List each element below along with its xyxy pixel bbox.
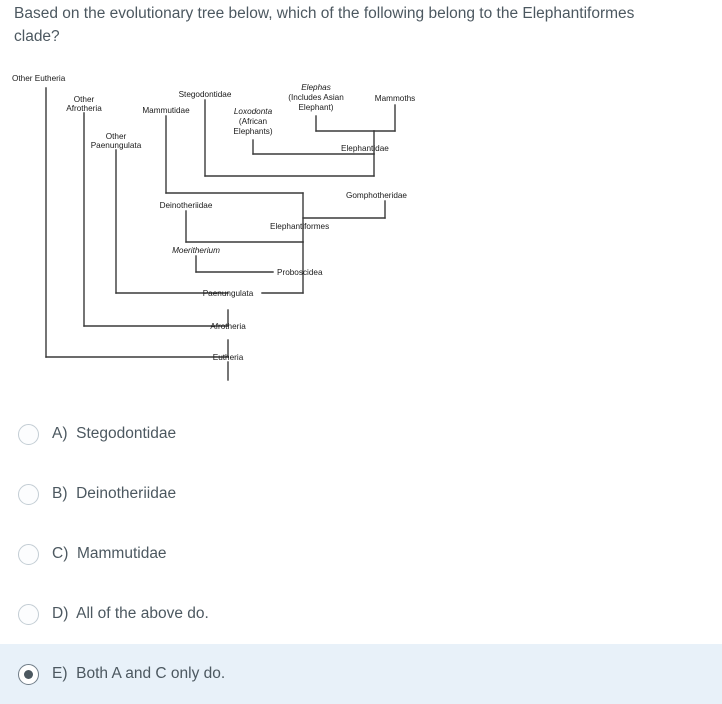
tree-label-loxodonta: Loxodonta bbox=[234, 107, 273, 116]
answer-option-d-label: D) All of the above do. bbox=[52, 605, 209, 623]
tree-label-elephantiformes: Elephantiformes bbox=[270, 222, 329, 231]
tree-label-mammutidae: Mammutidae bbox=[142, 106, 190, 115]
tree-label-elephas-sub1: (Includes Asian bbox=[288, 93, 344, 102]
question-prompt: Based on the evolutionary tree below, wh… bbox=[14, 2, 674, 48]
answer-option-a[interactable]: A) Stegodontidae bbox=[0, 404, 722, 464]
answer-option-c[interactable]: C) Mammutidae bbox=[0, 524, 722, 584]
tree-label-elephas: Elephas bbox=[301, 83, 331, 92]
tree-label-other-afrotheria-line2: Afrotheria bbox=[66, 104, 102, 113]
answer-option-a-label: A) Stegodontidae bbox=[52, 425, 176, 443]
cladogram-svg: Other Eutheria Other Afrotheria Other Pa… bbox=[0, 70, 460, 390]
tree-label-afrotheria: Afrotheria bbox=[210, 322, 246, 331]
tree-label-mammoths: Mammoths bbox=[375, 94, 416, 103]
tree-label-other-paenungulata-line2: Paenungulata bbox=[91, 141, 142, 150]
answer-option-d[interactable]: D) All of the above do. bbox=[0, 584, 722, 644]
radio-button-d[interactable] bbox=[18, 604, 39, 625]
tree-label-loxodonta-sub1: (African bbox=[239, 117, 268, 126]
tree-label-other-eutheria: Other Eutheria bbox=[12, 74, 66, 83]
tree-label-moeritherium: Moeritherium bbox=[172, 246, 220, 255]
radio-button-c[interactable] bbox=[18, 544, 39, 565]
radio-button-b[interactable] bbox=[18, 484, 39, 505]
tree-branches bbox=[46, 88, 395, 380]
tree-label-other-paenungulata-line1: Other bbox=[106, 132, 127, 141]
tree-label-gomphotheridae: Gomphotheridae bbox=[346, 191, 407, 200]
tree-label-other-afrotheria-line1: Other bbox=[74, 95, 95, 104]
tree-label-proboscidea: Proboscidea bbox=[277, 268, 323, 277]
tree-label-elephas-sub2: Elephant) bbox=[298, 103, 333, 112]
evolutionary-tree-diagram: Other Eutheria Other Afrotheria Other Pa… bbox=[0, 70, 460, 390]
answer-option-c-label: C) Mammutidae bbox=[52, 545, 167, 563]
tree-label-elephantidae: Elephantidae bbox=[341, 144, 389, 153]
tree-label-stegodontidae: Stegodontidae bbox=[179, 90, 232, 99]
radio-button-e[interactable] bbox=[18, 664, 39, 685]
answer-options-list: A) Stegodontidae B) Deinotheriidae C) Ma… bbox=[0, 404, 722, 704]
answer-option-e[interactable]: E) Both A and C only do. bbox=[0, 644, 722, 704]
answer-option-b-label: B) Deinotheriidae bbox=[52, 485, 176, 503]
tree-label-eutheria: Eutheria bbox=[213, 353, 244, 362]
tree-label-deinotheriidae: Deinotheriidae bbox=[160, 201, 213, 210]
answer-option-e-label: E) Both A and C only do. bbox=[52, 665, 225, 683]
tree-label-loxodonta-sub2: Elephants) bbox=[233, 127, 272, 136]
radio-button-a[interactable] bbox=[18, 424, 39, 445]
answer-option-b[interactable]: B) Deinotheriidae bbox=[0, 464, 722, 524]
tree-label-paenungulata: Paenungulata bbox=[203, 289, 254, 298]
